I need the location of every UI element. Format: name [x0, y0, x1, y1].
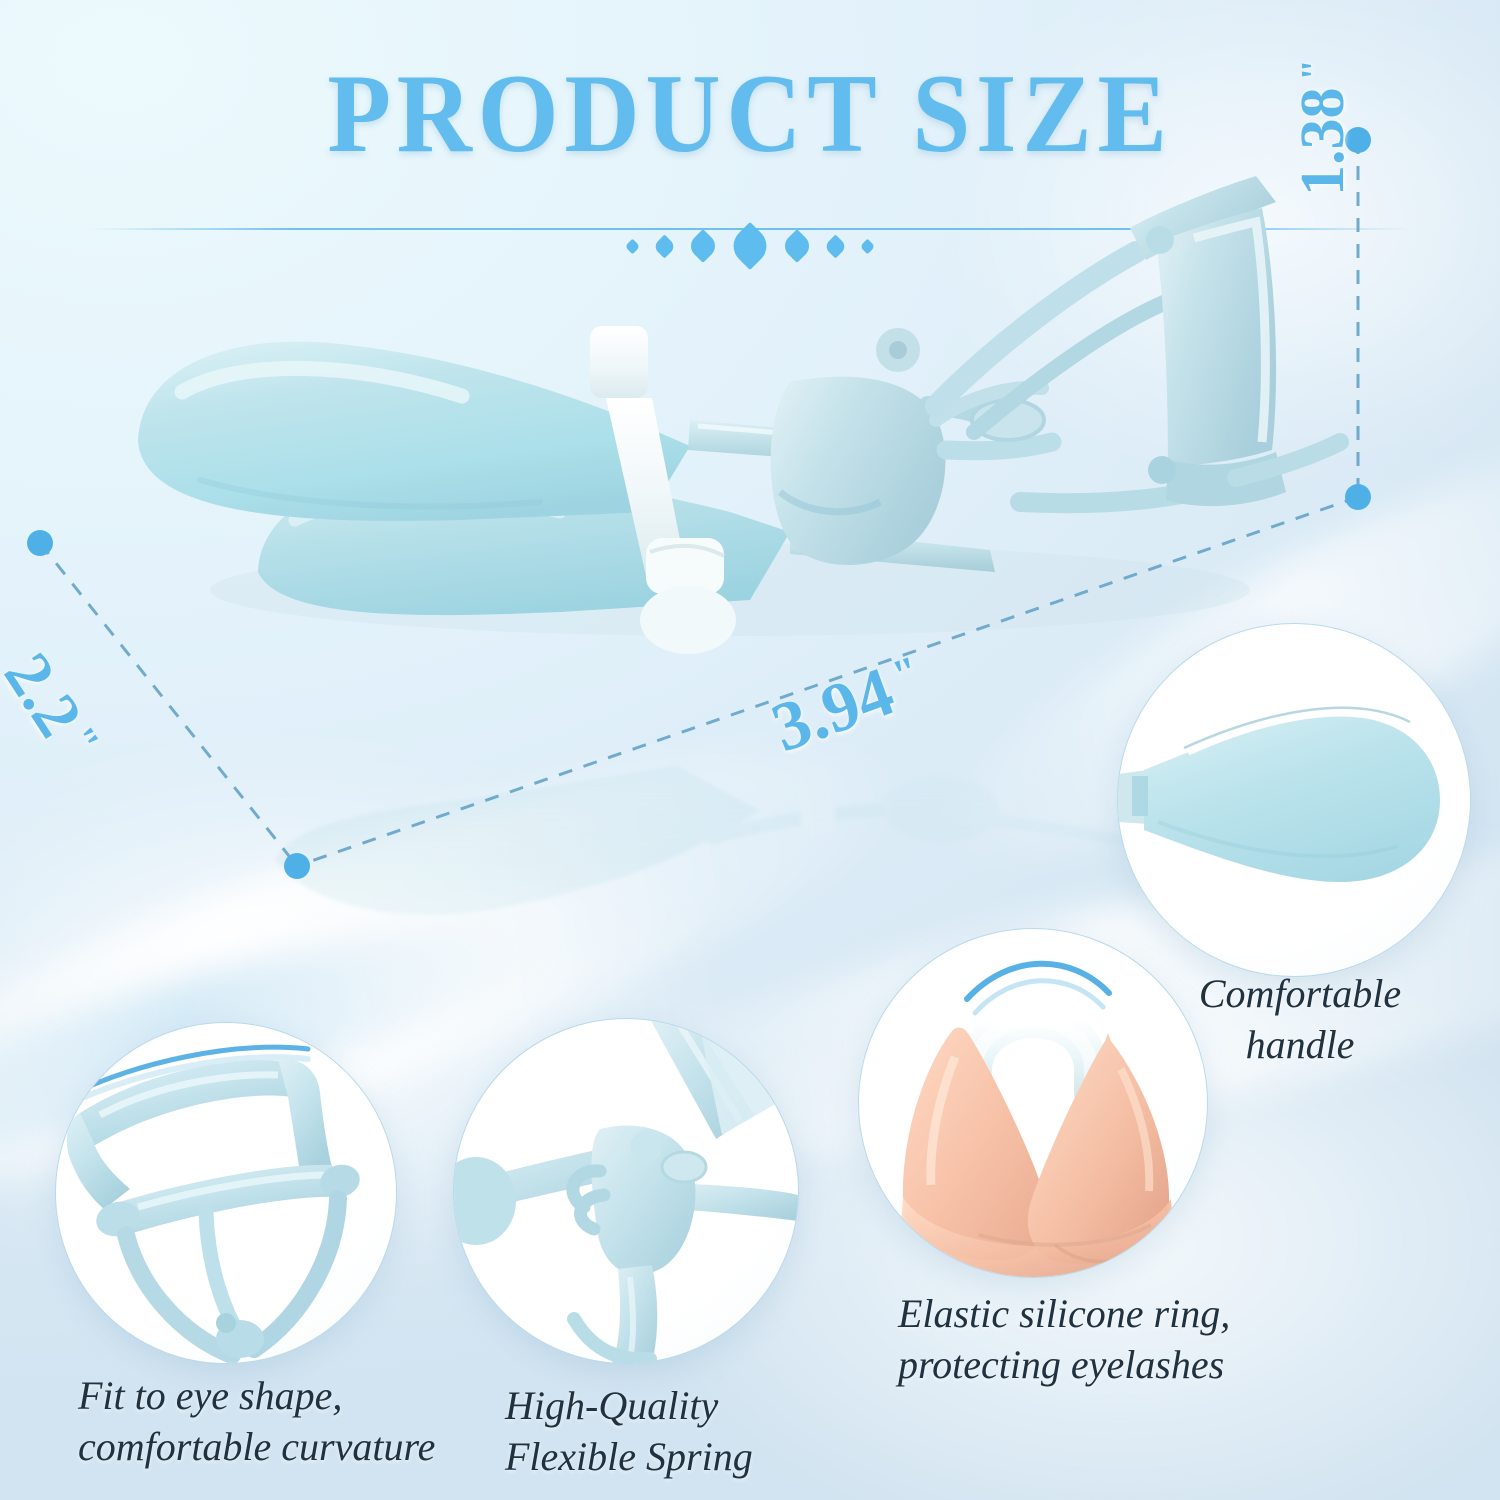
curler-vector: [90, 120, 1380, 680]
caption-silicone-ring: Elastic silicone ring, protecting eyelas…: [898, 1288, 1328, 1390]
curler-head: [1130, 176, 1340, 506]
caption-line-2: protecting eyelashes: [898, 1339, 1328, 1390]
caption-line-2: comfortable curvature: [78, 1421, 478, 1472]
caption-line-1: Elastic silicone ring,: [898, 1288, 1328, 1339]
dimension-label-height: 1.38": [1288, 58, 1359, 196]
product-size-infographic: PRODUCT SIZE: [0, 0, 1500, 1500]
caption-line-1: High-Quality: [505, 1380, 835, 1431]
inset-silicone-ring-fingers: [858, 928, 1208, 1278]
inset-spring-hinge: [453, 1018, 799, 1364]
caption-line-1: Fit to eye shape,: [78, 1370, 478, 1421]
caption-spring: High-Quality Flexible Spring: [505, 1380, 835, 1482]
inset-curler-frame: [55, 1022, 397, 1364]
caption-line-2: Flexible Spring: [505, 1431, 835, 1482]
caption-eye-shape: Fit to eye shape, comfortable curvature: [78, 1370, 478, 1472]
inset-comfortable-handle: [1117, 623, 1471, 977]
